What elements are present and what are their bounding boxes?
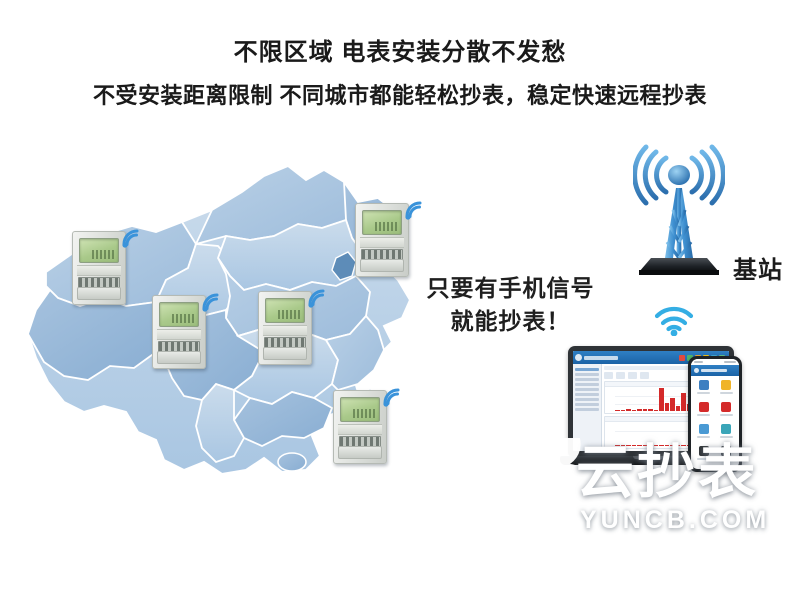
chart-bar xyxy=(676,406,681,411)
chart-bar xyxy=(654,410,659,411)
phone-app-icon-1[interactable] xyxy=(694,380,714,399)
meter-southwest xyxy=(152,295,206,369)
sidebar-item[interactable] xyxy=(575,388,599,391)
wifi-arc-icon xyxy=(381,383,407,407)
wifi-arc-icon xyxy=(120,224,146,248)
phone-app-icon-3[interactable] xyxy=(694,402,714,421)
meter-cover xyxy=(263,347,307,360)
sidebar-item[interactable] xyxy=(575,408,599,411)
sidebar-item[interactable] xyxy=(575,393,599,396)
meter-label-band xyxy=(263,325,307,336)
meter-body xyxy=(152,295,206,369)
status-time xyxy=(694,361,703,363)
meter-cover xyxy=(77,287,121,300)
meter-lcd-display xyxy=(340,397,380,422)
filter-button[interactable] xyxy=(604,372,613,379)
chart-bar xyxy=(670,398,675,411)
toolbar-icon-1[interactable] xyxy=(679,355,685,361)
app-icon-label xyxy=(697,392,710,394)
cell-tower-icon xyxy=(633,140,725,280)
meter-label-band xyxy=(360,237,404,248)
chart-bar xyxy=(648,409,653,411)
meter-body xyxy=(72,231,126,305)
meter-cover xyxy=(338,446,382,459)
watermark-brand: 云抄表 xyxy=(576,442,759,504)
callout-text: 只要有手机信号 就能抄表！ xyxy=(408,272,613,338)
meter-southeast xyxy=(333,390,387,464)
wifi-arc-icon xyxy=(200,288,226,312)
china-map xyxy=(6,140,456,500)
meter-cover xyxy=(157,351,201,364)
phone-app-header xyxy=(691,365,739,376)
meter-body xyxy=(333,390,387,464)
watermark: 云抄表 YUNCB.COM xyxy=(498,430,798,540)
watermark-domain: YUNCB.COM xyxy=(580,506,770,535)
meter-body xyxy=(258,291,312,365)
chart-bar xyxy=(665,403,670,411)
meter-lcd-display xyxy=(362,210,402,235)
filter-button[interactable] xyxy=(616,372,625,379)
meter-lcd-display xyxy=(265,298,305,323)
wifi-icon xyxy=(652,302,696,336)
app-icon-glyph xyxy=(721,402,731,412)
app-icon-glyph xyxy=(699,402,709,412)
meter-label-band xyxy=(77,265,121,276)
chart-bar xyxy=(615,410,620,411)
chart-bar xyxy=(632,410,637,411)
chart-bar xyxy=(621,410,626,411)
app-icon-label xyxy=(720,392,733,394)
filter-button[interactable] xyxy=(640,372,649,379)
meter-cover xyxy=(360,259,404,272)
dashboard-title xyxy=(584,356,618,360)
phone-app-icon-4[interactable] xyxy=(717,402,737,421)
app-icon-glyph xyxy=(721,380,731,390)
meter-label-band xyxy=(157,329,201,340)
sidebar-item[interactable] xyxy=(575,398,599,401)
wifi-arc-icon xyxy=(403,196,429,220)
headline-block: 不限区域 电表安装分散不发愁 不受安装距离限制 不同城市都能轻松抄表，稳定快速远… xyxy=(0,0,800,110)
sidebar-item[interactable] xyxy=(575,383,599,386)
headline-primary: 不限区域 电表安装分散不发愁 xyxy=(0,38,800,68)
app-icon-glyph xyxy=(699,380,709,390)
chart-bar xyxy=(681,393,686,411)
app-title xyxy=(701,369,727,372)
meter-lcd-display xyxy=(79,238,119,263)
dashboard-logo-icon xyxy=(575,354,582,361)
sidebar-item[interactable] xyxy=(575,368,599,371)
sidebar-item[interactable] xyxy=(575,403,599,406)
sidebar-item[interactable] xyxy=(575,373,599,376)
chart-bar xyxy=(637,409,642,411)
callout-line-2: 就能抄表！ xyxy=(408,305,613,338)
status-indicators xyxy=(724,361,736,363)
chart-bar xyxy=(643,409,648,411)
app-logo-icon xyxy=(694,368,699,373)
chart-bar xyxy=(626,409,631,411)
meter-body xyxy=(355,203,409,277)
meter-northwest xyxy=(72,231,126,305)
meter-label-band xyxy=(338,424,382,435)
phone-app-icon-2[interactable] xyxy=(717,380,737,399)
app-icon-label xyxy=(697,414,710,416)
headline-secondary: 不受安装距离限制 不同城市都能轻松抄表，稳定快速远程抄表 xyxy=(0,82,800,110)
filter-button[interactable] xyxy=(628,372,637,379)
app-icon-label xyxy=(720,414,733,416)
meter-lcd-display xyxy=(159,302,199,327)
wifi-arc-icon xyxy=(306,284,332,308)
sidebar-item[interactable] xyxy=(575,378,599,381)
chart-bar xyxy=(659,388,664,411)
tower-label: 基站 xyxy=(733,250,783,285)
meter-northeast xyxy=(355,203,409,277)
meter-central xyxy=(258,291,312,365)
callout-line-1: 只要有手机信号 xyxy=(408,272,613,305)
